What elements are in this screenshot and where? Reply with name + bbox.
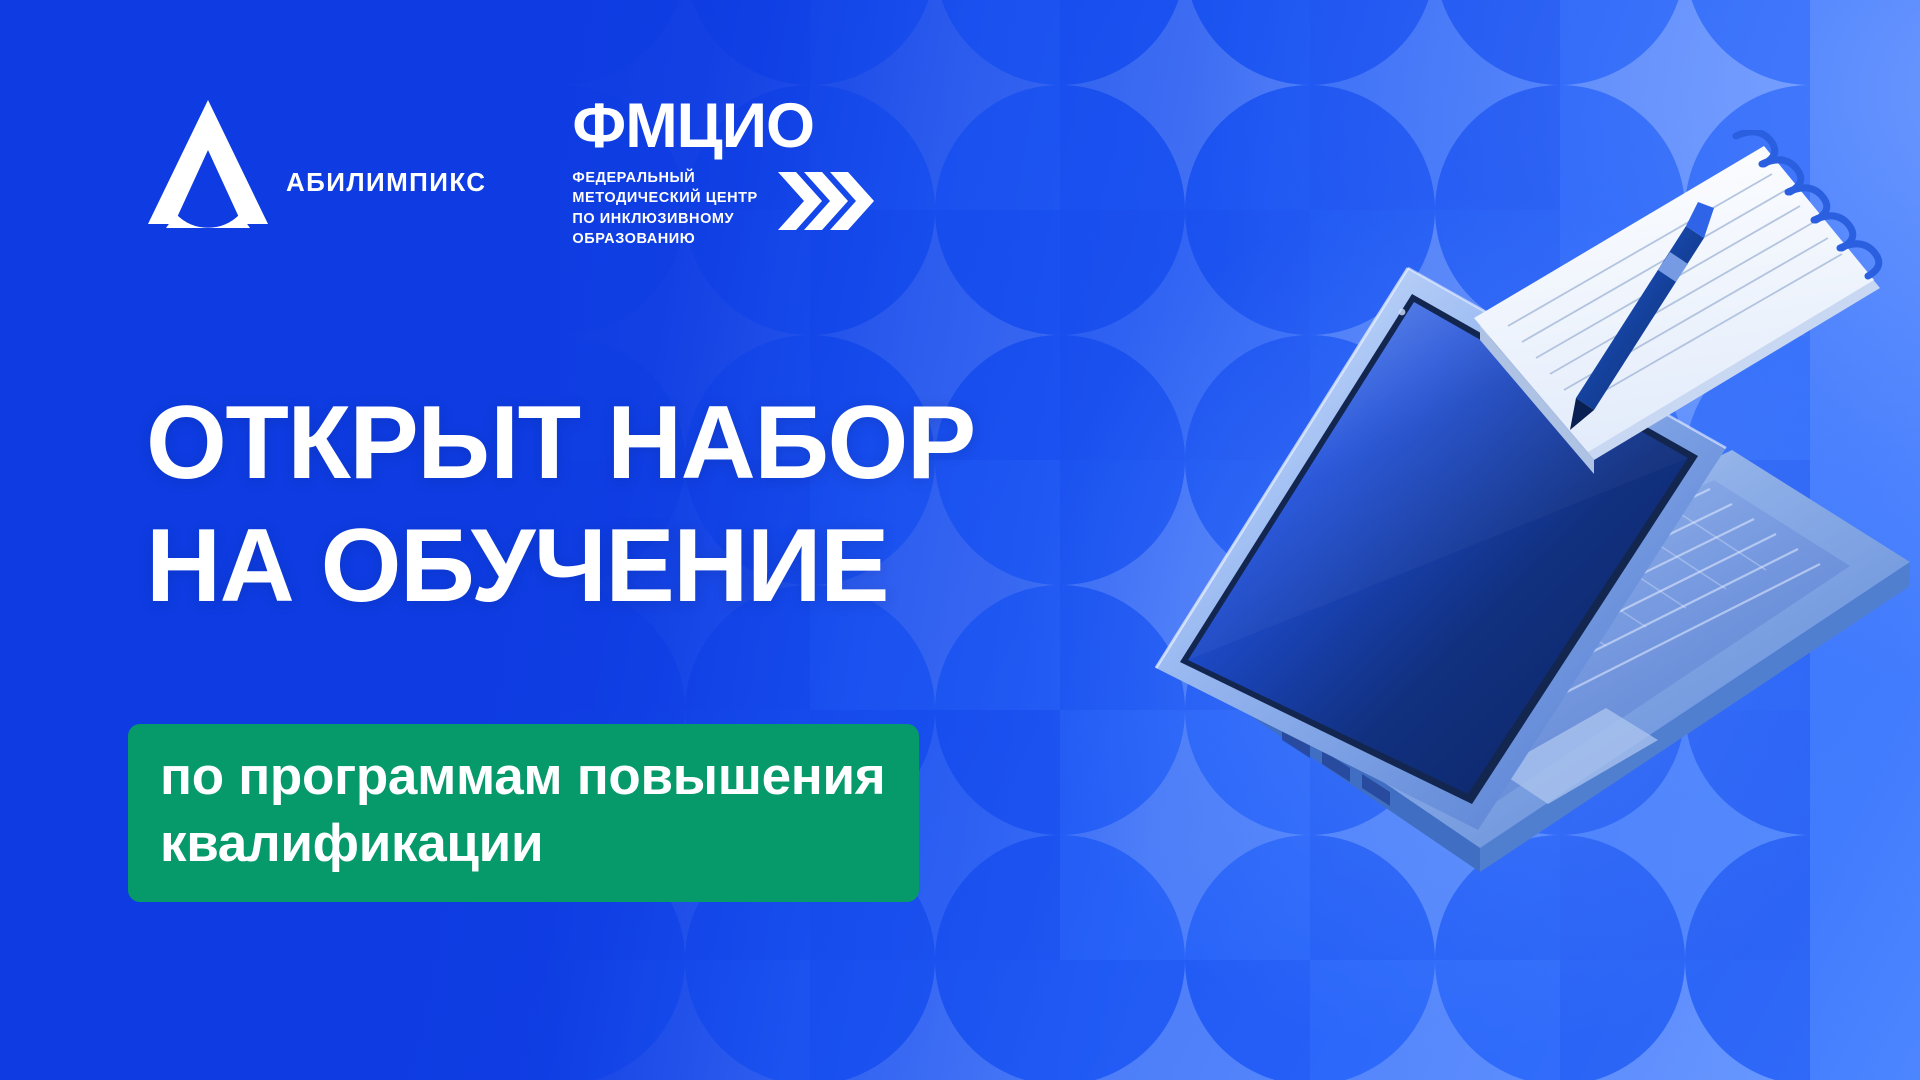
headline-line-2: НА ОБУЧЕНИЕ: [146, 505, 975, 628]
fmcio-wordmark: ФМЦИО: [572, 96, 814, 158]
fmcio-subtitle-line: ФЕДЕРАЛЬНЫЙ: [572, 168, 757, 189]
badge-line-1: по программам повышения: [160, 744, 885, 811]
fmcio-subtitle-line: ПО ИНКЛЮЗИВНОМУ: [572, 209, 757, 230]
badge-line-2: квалификации: [160, 811, 885, 878]
abilimpiks-logo[interactable]: АБИЛИМПИКС: [146, 96, 486, 230]
chevron-right-icon: [776, 170, 874, 232]
fmcio-subtitle-line: ОБРАЗОВАНИЮ: [572, 229, 757, 250]
fmcio-subtitle-line: МЕТОДИЧЕСКИЙ ЦЕНТР: [572, 188, 757, 209]
abilimpiks-a-mark: [146, 96, 270, 230]
fmcio-wordmark-row: ФМЦИО: [572, 96, 873, 158]
logo-group: АБИЛИМПИКС ФМЦИО ФЕДЕРАЛЬНЫЙ МЕТОДИЧЕСКИ…: [146, 96, 874, 250]
subtitle-badge: по программам повышения квалификации: [128, 724, 919, 902]
fmcio-subtitle-row: ФЕДЕРАЛЬНЫЙ МЕТОДИЧЕСКИЙ ЦЕНТР ПО ИНКЛЮЗ…: [572, 168, 873, 250]
abilimpiks-wordmark: АБИЛИМПИКС: [286, 167, 486, 198]
fmcio-subtitle: ФЕДЕРАЛЬНЫЙ МЕТОДИЧЕСКИЙ ЦЕНТР ПО ИНКЛЮЗ…: [572, 168, 757, 250]
headline: ОТКРЫТ НАБОР НА ОБУЧЕНИЕ: [146, 382, 975, 627]
fmcio-logo[interactable]: ФМЦИО ФЕДЕРАЛЬНЫЙ МЕТОДИЧЕСКИЙ ЦЕНТР ПО …: [572, 96, 873, 250]
headline-line-1: ОТКРЫТ НАБОР: [146, 382, 975, 505]
promo-banner: АБИЛИМПИКС ФМЦИО ФЕДЕРАЛЬНЫЙ МЕТОДИЧЕСКИ…: [0, 0, 1920, 1080]
